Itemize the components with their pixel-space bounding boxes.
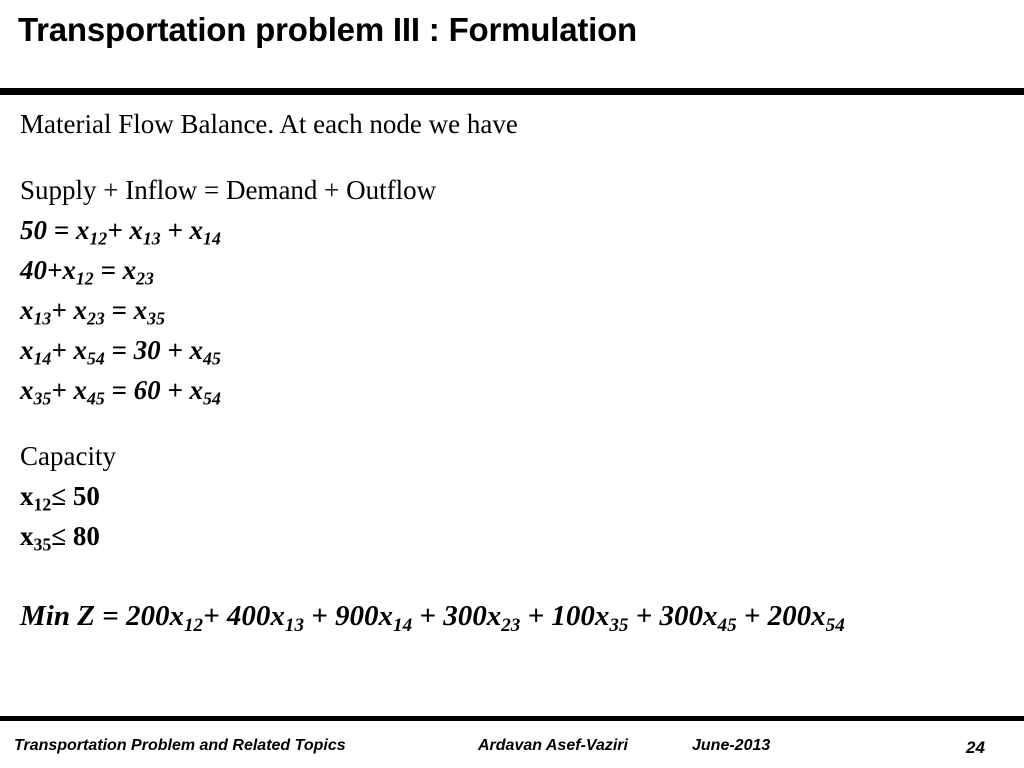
balance-equation-4: x14+ x54 = 30 + x45 [20,330,1010,370]
eq-subscript: 23 [136,269,154,289]
eq-subscript: 14 [203,229,221,249]
eq-subscript: 12 [89,229,107,249]
eq-subscript: 14 [34,349,52,369]
objective-variable: x [169,600,184,632]
objective-variable: x [595,600,610,632]
eq-variable: x [190,215,204,245]
constraint-operator: ≤ [51,481,66,511]
objective-label: Min Z = [20,600,126,632]
objective-subscript: 54 [826,615,845,636]
eq-variable: x [76,215,90,245]
eq-variable: x [123,255,137,285]
eq-variable: x [73,375,87,405]
eq-subscript: 45 [203,349,221,369]
capacity-constraint-1: x12≤ 50 [20,476,1010,516]
spacer [20,410,1010,436]
footer-page-number: 24 [966,738,985,758]
eq-subscript: 54 [203,389,221,409]
eq-token: = 30 + [105,335,190,365]
objective-variable: x [811,600,826,632]
eq-variable: x [73,335,87,365]
objective-variable: x [703,600,718,632]
balance-heading: Supply + Inflow = Demand + Outflow [20,170,1010,210]
eq-subscript: 35 [147,309,165,329]
eq-variable: x [20,335,34,365]
eq-token: + [107,215,129,245]
objective-coefficient: 200 [126,600,170,632]
constraint-value: 50 [73,481,100,511]
objective-operator: + [528,600,552,632]
eq-token: + [161,215,190,245]
objective-coefficient: 400 [227,600,271,632]
eq-token: + [51,375,73,405]
eq-token: + [51,295,73,325]
eq-token: = [105,295,134,325]
eq-subscript: 54 [87,349,105,369]
objective-subscript: 35 [609,615,628,636]
eq-subscript: 13 [143,229,161,249]
eq-variable: x [73,295,87,325]
eq-token: = 60 + [105,375,190,405]
slide-footer: Transportation Problem and Related Topic… [0,735,1024,765]
capacity-constraint-2: x35≤ 80 [20,516,1010,556]
intro-text: Material Flow Balance. At each node we h… [20,104,1010,144]
constraint-variable: x [20,481,34,511]
balance-equation-3: x13+ x23 = x35 [20,290,1010,330]
objective-subscript: 45 [718,615,737,636]
objective-operator: + [744,600,768,632]
footer-course-title: Transportation Problem and Related Topic… [14,737,346,755]
objective-operator: + [636,600,660,632]
eq-subscript: 45 [87,389,105,409]
constraint-value: 80 [73,521,100,551]
objective-variable: x [270,600,285,632]
eq-variable: x [20,375,34,405]
balance-equation-1: 50 = x12+ x13 + x14 [20,210,1010,250]
slide-body: Material Flow Balance. At each node we h… [20,104,1010,704]
spacer [20,144,1010,170]
objective-coefficient: 200 [768,600,812,632]
title-divider-rule [0,88,1024,95]
objective-subscript: 12 [184,615,203,636]
eq-token: 40+ [20,255,62,285]
eq-subscript: 12 [76,269,94,289]
objective-variable: x [379,600,394,632]
footer-date: June-2013 [692,737,770,755]
objective-operator: + [203,600,227,632]
eq-token: = [94,255,123,285]
objective-coefficient: 300 [660,600,704,632]
footer-author: Ardavan Asef-Vaziri [478,737,628,755]
balance-equation-5: x35+ x45 = 60 + x54 [20,370,1010,410]
slide-canvas: Transportation problem III : Formulation… [0,0,1024,768]
eq-token: 50 = [20,215,76,245]
page-title: Transportation problem III : Formulation [18,8,998,52]
eq-variable: x [134,295,148,325]
objective-operator: + [419,600,443,632]
capacity-heading: Capacity [20,436,1010,476]
eq-subscript: 23 [87,309,105,329]
balance-equation-2: 40+x12 = x23 [20,250,1010,290]
objective-coefficient: 100 [551,600,595,632]
objective-operator: + [311,600,335,632]
eq-variable: x [190,375,204,405]
constraint-operator: ≤ [51,521,66,551]
objective-function: Min Z = 200x12+ 400x13 + 900x14 + 300x23… [20,596,1010,636]
eq-token: + [51,335,73,365]
eq-variable: x [190,335,204,365]
objective-subscript: 23 [501,615,520,636]
objective-coefficient: 900 [335,600,379,632]
objective-subscript: 14 [393,615,412,636]
constraint-variable: x [20,521,34,551]
constraint-subscript: 35 [34,535,52,555]
objective-subscript: 13 [285,615,304,636]
eq-variable: x [20,295,34,325]
objective-coefficient: 300 [443,600,487,632]
eq-subscript: 35 [34,389,52,409]
eq-variable: x [129,215,143,245]
footer-divider-rule [0,716,1024,721]
eq-variable: x [62,255,76,285]
spacer [20,556,1010,596]
eq-subscript: 13 [34,309,52,329]
objective-variable: x [487,600,502,632]
constraint-subscript: 12 [34,495,52,515]
